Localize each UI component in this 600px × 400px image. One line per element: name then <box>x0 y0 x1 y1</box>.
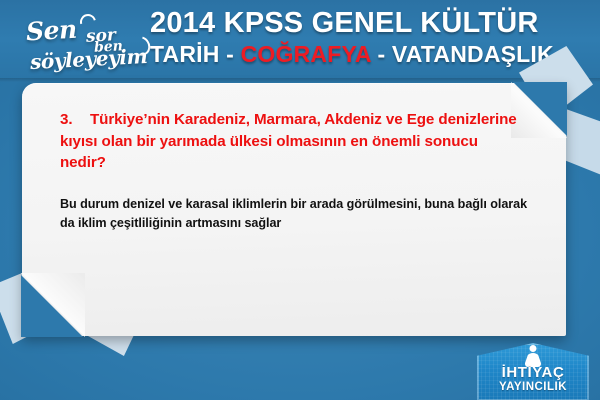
brand-logo-sen-sor-ben-soyleyeyim: Sen sor ben söyleyeyim <box>24 14 150 70</box>
slide-canvas: Sen sor ben söyleyeyim 2014 KPSS GENEL K… <box>0 0 600 400</box>
publisher-name: İHTİYAÇ <box>477 364 589 381</box>
subject-tarih: TARİH <box>150 41 220 67</box>
header-title: 2014 KPSS GENEL KÜLTÜR <box>150 7 538 40</box>
question-block: 3.Türkiye’nin Karadeniz, Marmara, Akdeni… <box>60 109 520 174</box>
subtitle-separator-2: - <box>371 41 392 67</box>
header-bar: Sen sor ben söyleyeyim 2014 KPSS GENEL K… <box>0 0 600 82</box>
subtitle-separator-1: - <box>220 41 241 67</box>
question-number: 3. <box>60 109 90 131</box>
logo-line-soyleyeyim: söyleyeyim <box>29 44 147 74</box>
subject-cografya: COĞRAFYA <box>241 41 371 67</box>
publisher-badge: İHTİYAÇ YAYINCILIK <box>477 343 589 400</box>
person-head-icon <box>530 345 537 352</box>
logo-line-sen: Sen <box>25 15 77 47</box>
answer-text: Bu durum denizel ve karasal iklimlerin b… <box>60 195 530 232</box>
question-text: Türkiye’nin Karadeniz, Marmara, Akdeniz … <box>60 111 517 171</box>
content-card: 3.Türkiye’nin Karadeniz, Marmara, Akdeni… <box>22 83 566 336</box>
subject-vatandaslik: VATANDAŞLIK <box>392 41 554 67</box>
publisher-type: YAYINCILIK <box>477 381 589 393</box>
header-subtitle: TARİH - COĞRAFYA - VATANDAŞLIK <box>150 41 554 68</box>
